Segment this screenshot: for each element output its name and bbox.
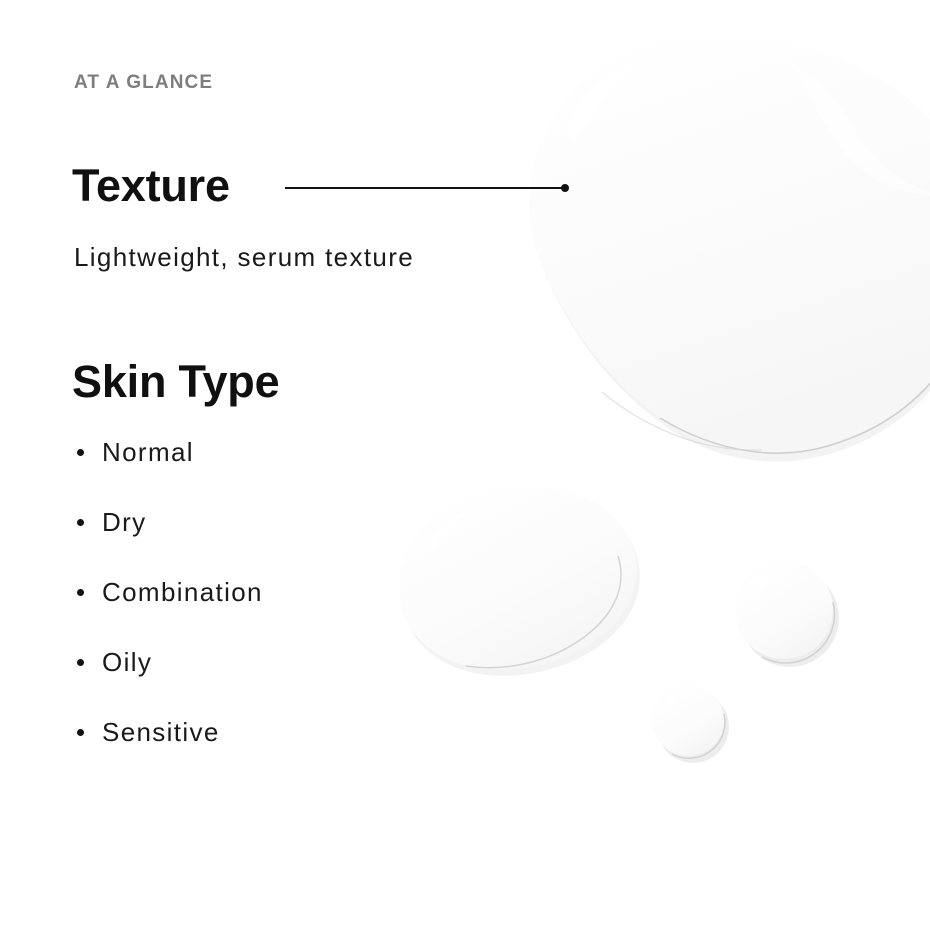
texture-description: Lightweight, serum texture — [74, 244, 414, 270]
large-blob-shadow — [532, 44, 930, 461]
skin-type-label: Combination — [102, 577, 263, 607]
small-droplet-edge — [672, 714, 725, 758]
large-blob-highlight-2 — [566, 70, 620, 142]
medium-droplet-shadow — [741, 569, 839, 667]
large-cream-blob — [529, 37, 930, 461]
medium-droplet-edge — [762, 602, 834, 663]
skin-type-list: Normal Dry Combination Oily Sensitive — [74, 437, 263, 787]
list-item: Oily — [74, 647, 263, 717]
at-a-glance-card: AT A GLANCE Texture Lightweight, serum t… — [0, 0, 930, 930]
skin-type-label: Normal — [102, 437, 194, 467]
large-blob-bottom-edge-soft — [602, 392, 762, 450]
skin-type-label: Oily — [102, 647, 152, 677]
kidney-shadow — [401, 493, 639, 676]
list-item: Dry — [74, 507, 263, 577]
skin-type-heading: Skin Type — [72, 359, 279, 404]
small-cream-droplet — [652, 684, 729, 763]
kidney-edge — [466, 556, 621, 668]
small-droplet-shadow — [657, 691, 729, 763]
list-item: Combination — [74, 577, 263, 647]
large-blob-top-saddle — [790, 62, 930, 196]
skin-type-label: Sensitive — [102, 717, 220, 747]
large-blob-highlight — [572, 56, 646, 130]
medium-droplet-highlight — [747, 572, 769, 591]
large-blob-body — [529, 37, 930, 454]
large-blob-bottom-edge — [660, 318, 930, 453]
small-droplet-body — [652, 684, 724, 756]
texture-connector-dot — [561, 184, 569, 192]
small-droplet-highlight — [662, 692, 679, 708]
medium-droplet-body — [735, 561, 833, 659]
list-item: Normal — [74, 437, 263, 507]
texture-heading: Texture — [72, 163, 230, 208]
kidney-body — [398, 487, 636, 670]
kidney-highlight — [428, 510, 474, 548]
list-item: Sensitive — [74, 717, 263, 787]
kidney-cream-swatch — [398, 487, 639, 676]
medium-cream-droplet — [735, 561, 839, 667]
skin-type-label: Dry — [102, 507, 147, 537]
at-a-glance-label: AT A GLANCE — [74, 73, 213, 92]
texture-connector-line — [285, 187, 566, 189]
